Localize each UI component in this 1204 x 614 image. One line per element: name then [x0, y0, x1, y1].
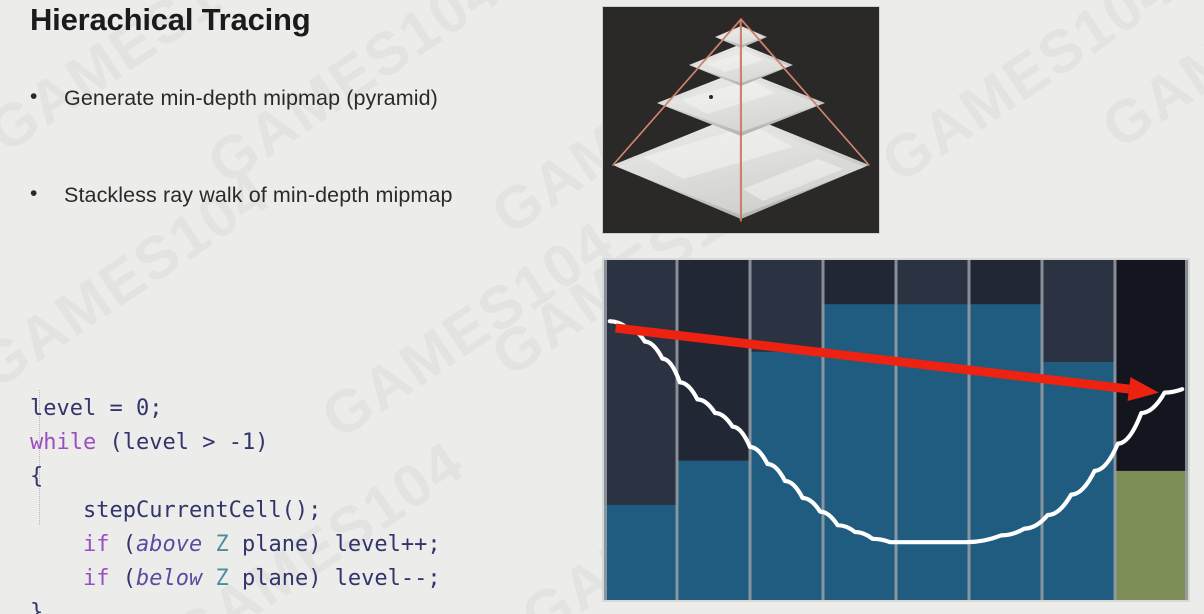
cell-separator	[895, 260, 898, 600]
code-token: while	[30, 430, 96, 455]
bullet-marker: •	[30, 86, 64, 107]
cell-far-region	[750, 260, 823, 352]
code-token: >	[202, 430, 215, 455]
mipmap-pyramid-image	[602, 6, 880, 234]
cell-near-region	[823, 304, 896, 600]
code-token	[189, 430, 202, 455]
watermark: GAMES104	[1092, 0, 1204, 159]
code-token: level	[123, 430, 189, 455]
code-line: {	[30, 460, 441, 494]
cell-near-region	[750, 352, 823, 600]
cell-far-region	[1042, 260, 1115, 362]
code-token: =	[109, 396, 122, 421]
cell-separator	[968, 260, 971, 600]
code-token: {	[30, 464, 43, 489]
cell-separator	[676, 260, 679, 600]
bullet-marker: •	[30, 183, 64, 204]
cell-far-region	[969, 260, 1042, 304]
code-token: if	[83, 532, 110, 557]
cell-separator	[749, 260, 752, 600]
code-token: below	[136, 566, 202, 591]
code-line: level = 0;	[30, 392, 441, 426]
code-lines: level = 0;while (level > -1){ stepCurren…	[30, 392, 441, 614]
code-token: ;	[149, 396, 162, 421]
code-token: -1	[229, 430, 256, 455]
code-token	[202, 532, 215, 557]
cell-near-region	[604, 505, 677, 600]
code-token: (	[96, 430, 123, 455]
cell-separator	[1185, 260, 1188, 600]
code-token: Z	[215, 532, 228, 557]
bullet-item: • Generate min-depth mipmap (pyramid)	[30, 86, 438, 111]
code-token: above	[136, 532, 202, 557]
code-token: stepCurrentCell	[83, 498, 282, 523]
cell-near-region	[677, 461, 750, 600]
code-token: }	[30, 600, 43, 614]
bullet-text: Stackless ray walk of min-depth mipmap	[64, 183, 453, 208]
depth-chart-svg	[604, 260, 1188, 600]
page-title: Hierachical Tracing	[30, 2, 311, 38]
code-token	[96, 396, 109, 421]
cell-separator	[1114, 260, 1117, 600]
cell-separator	[1041, 260, 1044, 600]
code-token	[202, 566, 215, 591]
cell-far-region	[823, 260, 896, 304]
code-token: level	[335, 566, 401, 591]
code-line: stepCurrentCell();	[30, 494, 441, 528]
code-token	[215, 430, 228, 455]
code-token: level	[335, 532, 401, 557]
watermark: GAMES104	[872, 0, 1184, 193]
code-token: (	[109, 566, 136, 591]
code-token: Z	[215, 566, 228, 591]
min-depth-walk-diagram	[602, 258, 1190, 602]
code-token: 0	[136, 396, 149, 421]
cell-far-region	[896, 260, 969, 304]
code-token: level	[30, 396, 96, 421]
code-line: if (below Z plane) level--;	[30, 562, 441, 596]
code-token: ++;	[401, 532, 441, 557]
cell-near-region	[969, 304, 1042, 600]
code-token: ();	[282, 498, 322, 523]
slide-canvas: GAMES104 GAMES104 GAMES104 GAMES104 GAME…	[0, 0, 1204, 614]
code-line: if (above Z plane) level++;	[30, 528, 441, 562]
code-token: plane)	[229, 532, 335, 557]
code-line: while (level > -1)	[30, 426, 441, 460]
cell-near-region	[1042, 362, 1115, 600]
bullet-item: • Stackless ray walk of min-depth mipmap	[30, 183, 453, 208]
cell-near-region	[896, 304, 969, 600]
code-token: plane)	[229, 566, 335, 591]
cell-separator	[822, 260, 825, 600]
code-token: )	[255, 430, 268, 455]
pyramid-svg	[603, 7, 879, 233]
cell-hit-region	[1115, 471, 1188, 600]
bullet-text: Generate min-depth mipmap (pyramid)	[64, 86, 438, 111]
cell-separator	[604, 260, 607, 600]
code-token: if	[83, 566, 110, 591]
cell-far-region	[604, 260, 677, 505]
code-line: }	[30, 596, 441, 614]
code-block: level = 0;while (level > -1){ stepCurren…	[30, 290, 441, 614]
code-token	[123, 396, 136, 421]
code-token: --;	[401, 566, 441, 591]
code-token: (	[109, 532, 136, 557]
